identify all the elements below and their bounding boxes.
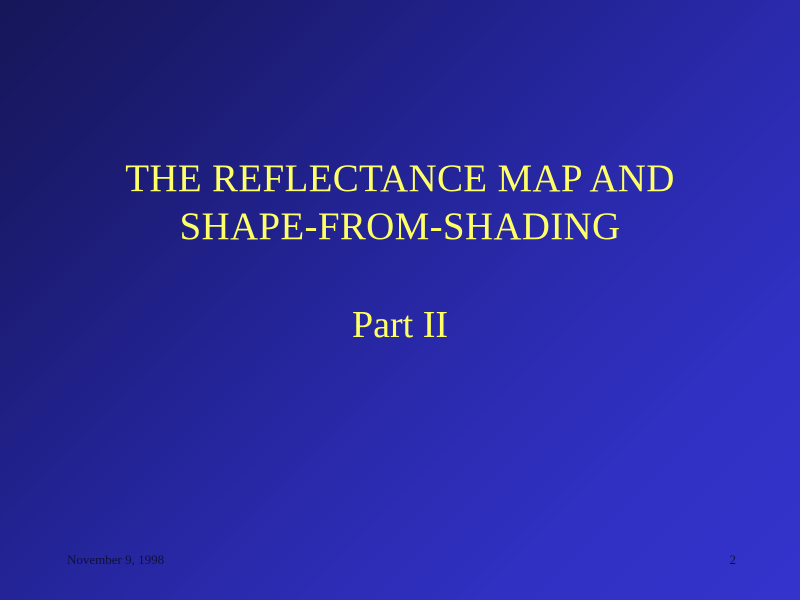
footer-page-number: 2 (730, 551, 737, 569)
footer-date: November 9, 1998 (67, 551, 164, 569)
presentation-slide: THE REFLECTANCE MAP AND SHAPE-FROM-SHADI… (0, 0, 800, 600)
slide-subtitle: Part II (0, 303, 800, 347)
slide-footer: November 9, 1998 2 (0, 551, 800, 571)
slide-title: THE REFLECTANCE MAP AND SHAPE-FROM-SHADI… (0, 155, 800, 251)
subtitle-line-1: Part II (0, 303, 800, 347)
title-line-2: SHAPE-FROM-SHADING (0, 203, 800, 251)
title-line-1: THE REFLECTANCE MAP AND (0, 155, 800, 203)
